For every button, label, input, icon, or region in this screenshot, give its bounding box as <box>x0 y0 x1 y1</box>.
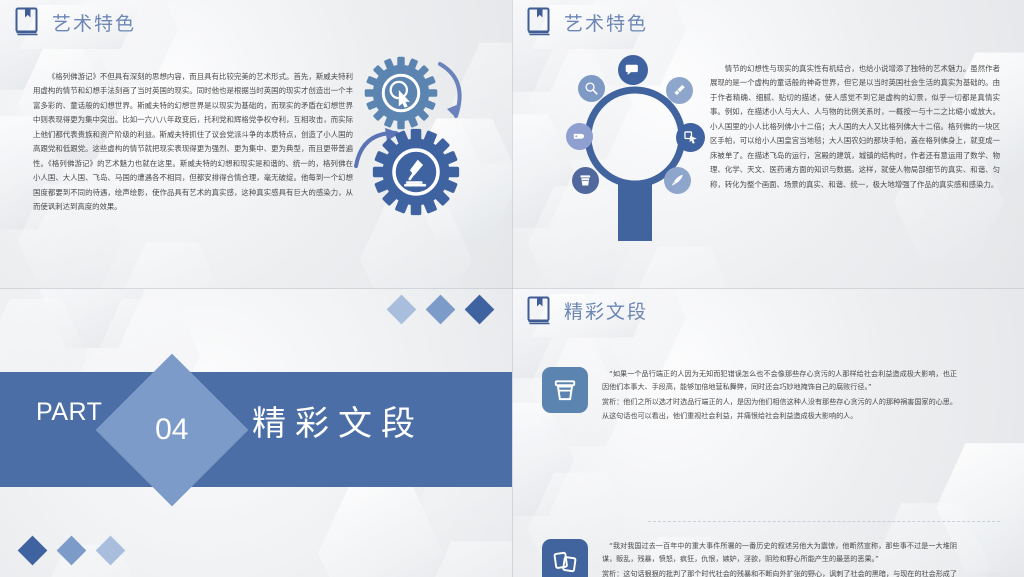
slide-title: 艺术特色 <box>52 9 136 36</box>
panel-divider-horizontal <box>0 288 1024 289</box>
tag-icon <box>566 123 593 150</box>
slide-body-text: 情节的幻想性与现实的真实性有机结合，也给小说增添了独特的艺术魅力。虽然作者展现的… <box>710 62 1000 192</box>
part-banner: PART 04 精彩文段 <box>0 372 512 487</box>
gear-target-icon <box>364 56 438 130</box>
coffee-cup-icon <box>572 167 599 194</box>
coffee-cup-icon <box>542 367 588 413</box>
slide-title: 艺术特色 <box>564 9 648 36</box>
gears-graphic <box>346 48 496 248</box>
slide-header: 精彩文段 <box>526 296 648 326</box>
diamond <box>57 536 87 566</box>
search-icon <box>578 75 605 102</box>
excerpt-note: 赏析：这句话狠狠的批判了那个时代社会的残暴和不断向外扩张的野心，讽刺了社会的黑暗… <box>602 567 957 577</box>
slide-art-features-1: 艺术特色 《格列佛游记》不但具有深刻的思想内容，而且具有比较完美的艺术形式。首先… <box>0 0 512 289</box>
megaphone-icon <box>666 77 693 104</box>
slide-art-features-2: 艺术特色 <box>512 0 1024 289</box>
slide-excerpts: 精彩文段 “如果一个品行端正的人因为无知而犯错误怎么也不会像那些存心贪污的人那样… <box>512 289 1024 577</box>
chat-bubble-icon <box>618 55 648 85</box>
diamond <box>465 294 495 324</box>
excerpt-quote: “如果一个品行端正的人因为无知而犯错误怎么也不会像那些存心贪污的人那样给社会利益… <box>602 367 957 395</box>
book-icon <box>526 296 554 326</box>
excerpt-entry: “我对我国过去一百年中的重大事件所署的一番历史的叙述另他大为震惊，他断然宣称，那… <box>542 539 957 577</box>
part-title: 精彩文段 <box>252 396 424 445</box>
cards-icon <box>542 539 588 577</box>
slide-title: 精彩文段 <box>564 297 648 324</box>
slide-header: 艺术特色 <box>14 7 136 37</box>
diamond-row-top-right <box>391 299 490 320</box>
diamond <box>426 294 456 324</box>
excerpt-note: 赏析：他们之所以选才时选品行端正的人，是因为他们相信这种人没有那些存心贪污的人的… <box>602 395 957 423</box>
diamond-row-bottom-left <box>22 540 121 561</box>
slide-body-text: 《格列佛游记》不但具有深刻的思想内容，而且具有比较完美的艺术形式。首先，斯威夫特… <box>33 70 353 214</box>
gear-microscope-icon <box>372 128 460 216</box>
slide-part-divider: PART 04 精彩文段 <box>0 289 512 577</box>
diamond <box>18 536 48 566</box>
excerpt-text: “如果一个品行端正的人因为无知而犯错误怎么也不会像那些存心贪污的人那样给社会利益… <box>602 367 957 423</box>
cursor-click-icon <box>676 123 705 152</box>
slide-deck: 艺术特色 《格列佛游记》不但具有深刻的思想内容，而且具有比较完美的艺术形式。首先… <box>0 0 1024 577</box>
book-icon <box>526 7 554 37</box>
excerpt-entry: “如果一个品行端正的人因为无知而犯错误怎么也不会像那些存心贪污的人那样给社会利益… <box>542 367 957 423</box>
diamond <box>96 536 126 566</box>
excerpt-quote: “我对我国过去一百年中的重大事件所署的一番历史的叙述另他大为震惊，他断然宣称，那… <box>602 539 957 567</box>
brush-icon <box>664 167 691 194</box>
excerpt-divider <box>648 521 1000 522</box>
part-number: 04 <box>155 413 188 447</box>
diamond <box>387 294 417 324</box>
part-number-diamond: 04 <box>96 353 249 506</box>
excerpt-text: “我对我国过去一百年中的重大事件所署的一番历史的叙述另他大为震惊，他断然宣称，那… <box>602 539 957 577</box>
slide-header: 艺术特色 <box>526 7 648 37</box>
part-label: PART <box>36 400 104 426</box>
arc-arrow-right-icon <box>434 58 474 122</box>
book-icon <box>14 7 42 37</box>
